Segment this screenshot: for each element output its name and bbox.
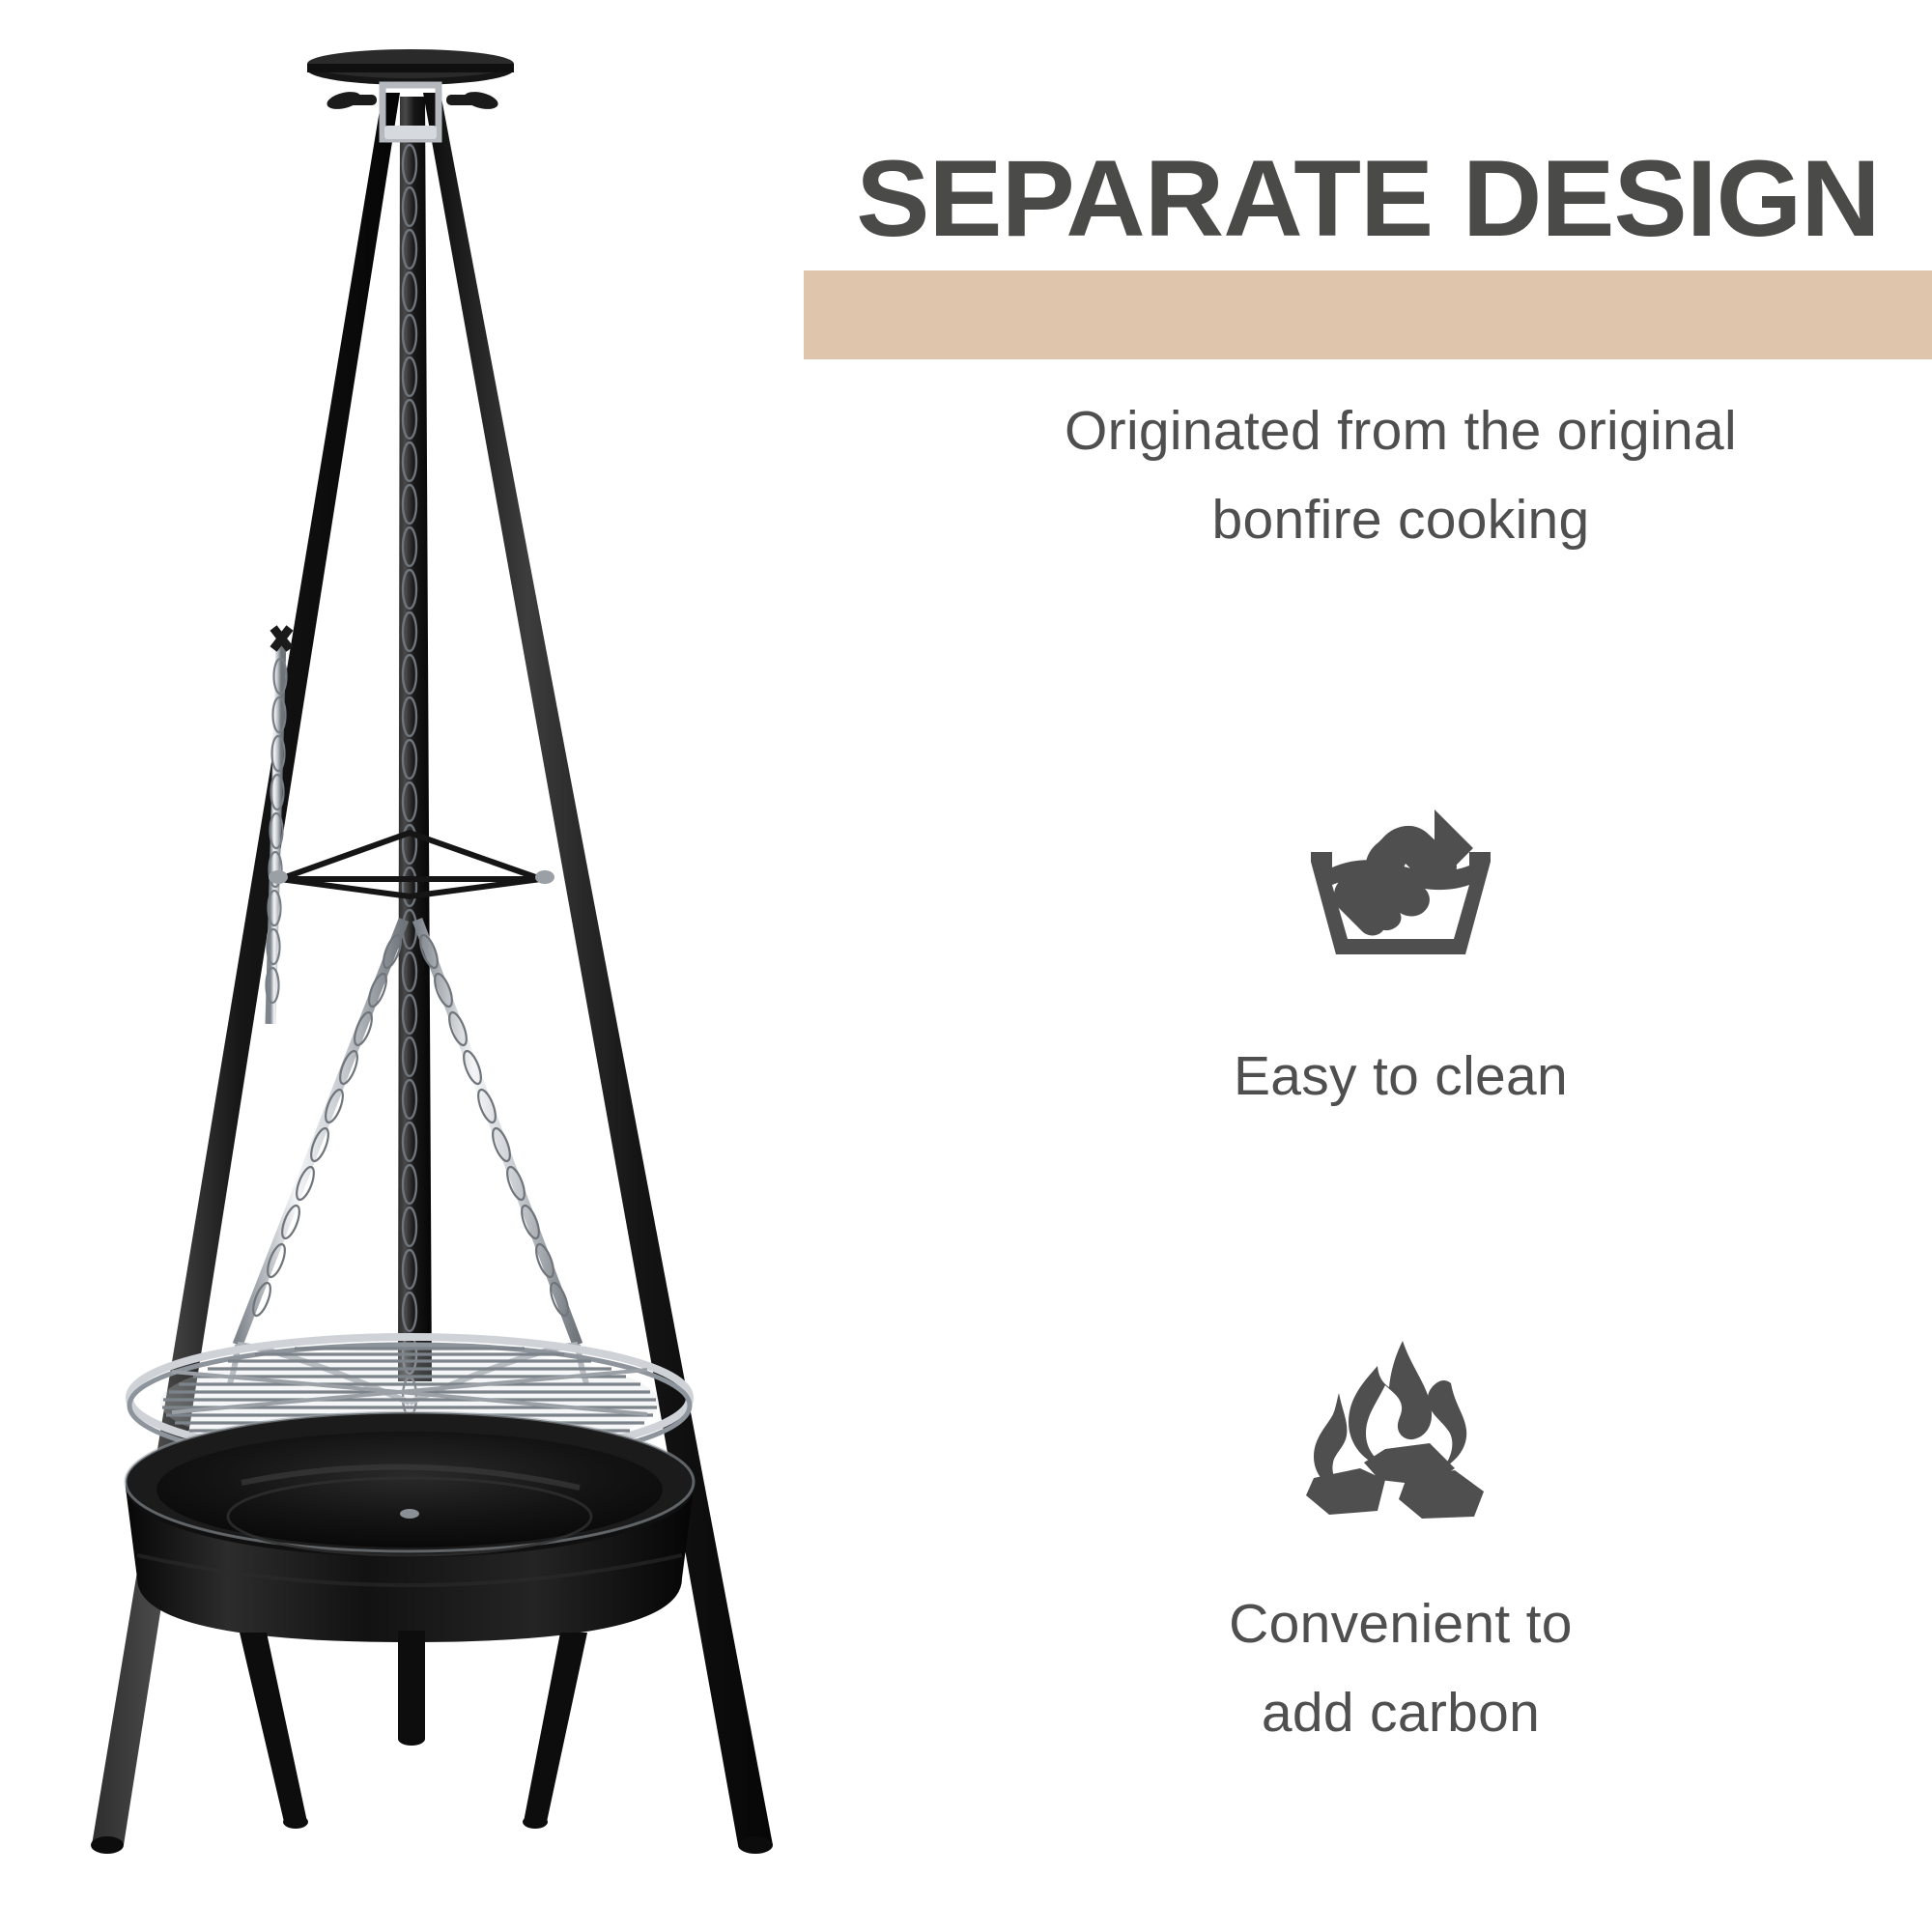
subtitle-line-1: Originated from the original (908, 386, 1893, 475)
page-title: SEPARATE DESIGN (792, 145, 1932, 253)
feature-label-add-carbon: Convenient to add carbon (869, 1579, 1932, 1758)
feature-label-add-carbon-line-2: add carbon (869, 1668, 1932, 1757)
fire-bowl-legs (240, 1631, 587, 1829)
product-photo (0, 0, 869, 1932)
tripod-apex-cap (307, 49, 514, 85)
subtitle-line-2: bonfire cooking (908, 475, 1893, 564)
hand-wash-basin-icon (869, 792, 1932, 985)
feature-add-carbon: Convenient to add carbon (869, 1333, 1932, 1758)
feature-label-easy-to-clean: Easy to clean (869, 1032, 1932, 1121)
title-highlight-band (804, 270, 1932, 359)
infographic-canvas: SEPARATE DESIGN Originated from the orig… (0, 0, 1932, 1932)
copy-column: SEPARATE DESIGN Originated from the orig… (869, 0, 1932, 1932)
feature-easy-to-clean: Easy to clean (869, 792, 1932, 1121)
tripod-feet (91, 1836, 773, 1854)
feature-label-add-carbon-line-1: Convenient to (869, 1579, 1932, 1668)
adjustable-chain (267, 638, 287, 1024)
subtitle: Originated from the original bonfire coo… (908, 386, 1893, 565)
black-fire-bowl (126, 1412, 694, 1642)
title-block: SEPARATE DESIGN (804, 145, 1932, 377)
charcoal-fire-icon (869, 1333, 1932, 1541)
